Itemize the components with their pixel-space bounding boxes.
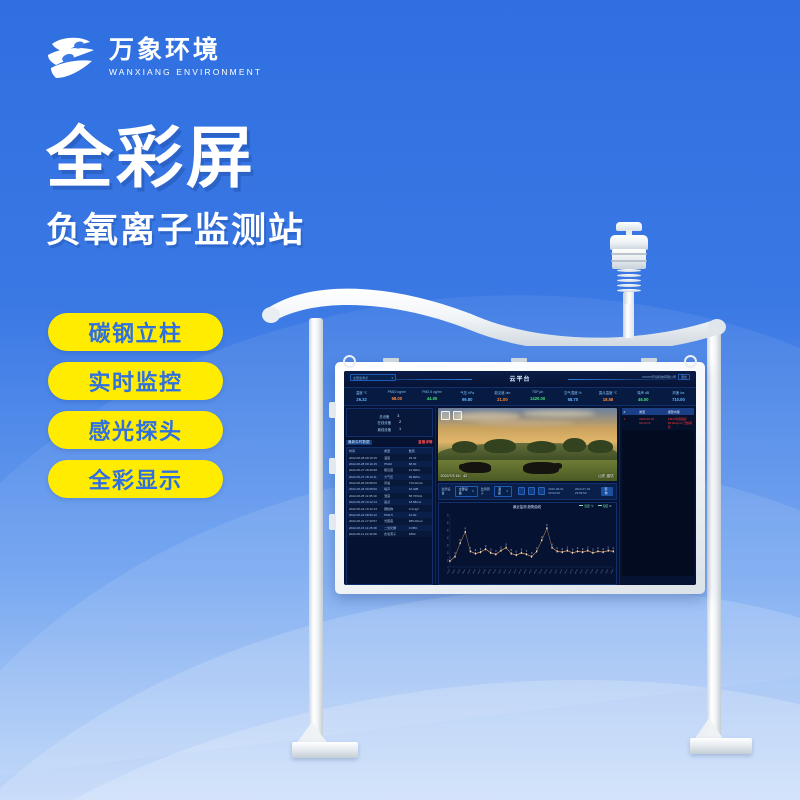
table-view-icon[interactable]: [518, 487, 525, 495]
brand-logo: 万象环境 WANXIANG ENVIRONMENT: [42, 28, 262, 86]
svg-text:06-05: 06-05: [467, 569, 470, 575]
svg-text:06-29: 06-29: [590, 569, 593, 575]
data-table: 时间 类型 数值 2022-06-28 09:10:15 温度 26.32 20…: [346, 447, 433, 585]
metric-label: PM10 ug/m³: [379, 390, 414, 394]
feature-badge: 碳钢立柱: [48, 313, 223, 351]
user-area[interactable]: XXXXX环境科技有限公司 退出: [642, 374, 690, 380]
svg-text:06-12: 06-12: [503, 569, 506, 575]
support-post-left: [309, 318, 323, 748]
device-select-value: 全部监测点: [353, 376, 368, 380]
svg-text:22: 22: [566, 547, 567, 550]
background-wave-4: [0, 608, 800, 800]
svg-text:06-30: 06-30: [595, 569, 598, 575]
tree: [484, 439, 516, 453]
svg-text:06-03: 06-03: [457, 569, 460, 575]
headline-block: 全彩屏 负氧离子监测站: [46, 125, 305, 253]
metric-item: 空气湿度 % 58.70: [555, 388, 590, 405]
cloud: [477, 420, 575, 427]
dashboard-header: 云平台 全部监测点 ▾ XXXXX环境科技有限公司 退出: [344, 371, 696, 388]
svg-text:21: 21: [536, 547, 537, 550]
svg-text:06-08: 06-08: [483, 569, 486, 575]
svg-text:06-20: 06-20: [544, 569, 547, 575]
support-post-right: [707, 322, 721, 744]
feature-badge: 感光探头: [48, 411, 223, 449]
svg-text:07-03: 07-03: [610, 569, 613, 575]
svg-text:06-23: 06-23: [559, 569, 562, 575]
query-button[interactable]: 查询: [601, 487, 612, 496]
date-range[interactable]: 2022-06-01 00:00:00 2022-07-03 23:59:59: [548, 487, 598, 495]
svg-text:21: 21: [612, 547, 613, 550]
hanger-ring-left: [343, 355, 356, 368]
metric-value: 1420.00: [520, 396, 555, 401]
column-header: #: [622, 408, 638, 415]
base-plate-right: [690, 738, 752, 754]
base-plate-left: [292, 742, 358, 758]
stat-value: 3: [397, 414, 399, 419]
svg-text:14: 14: [530, 553, 531, 556]
svg-text:19: 19: [490, 549, 491, 552]
stat-value: 2: [399, 420, 401, 425]
metric-label: 气压 kPa: [450, 390, 485, 395]
product-ad-poster: 万象环境 WANXIANG ENVIRONMENT 全彩屏 负氧离子监测站 碳钢…: [0, 0, 800, 800]
date-end: 2022-07-03 23:59:59: [575, 487, 599, 495]
globe-swirl-icon: [42, 28, 100, 86]
dashboard-screen: 云平台 全部监测点 ▾ XXXXX环境科技有限公司 退出 温度 ℃ 26.32 …: [344, 371, 696, 585]
headline-sub: 负氧离子监测站: [46, 202, 305, 253]
svg-text:18: 18: [474, 550, 475, 553]
tree: [563, 438, 586, 453]
weather-sensor-icon: [604, 222, 654, 302]
chart-legend: 温度 ℃ 湿度 %: [579, 504, 611, 508]
svg-text:21: 21: [597, 547, 598, 550]
export-icon[interactable]: [538, 487, 545, 495]
svg-text:21: 21: [576, 547, 577, 550]
svg-text:20: 20: [602, 548, 603, 551]
mount-bracket: [383, 358, 399, 362]
svg-text:06-16: 06-16: [523, 569, 526, 575]
brand-name-cn: 万象环境: [109, 37, 262, 65]
svg-text:36: 36: [541, 536, 542, 539]
chevron-down-icon: ▾: [506, 489, 508, 493]
svg-text:06-13: 06-13: [508, 569, 511, 575]
alarm-header-row: # 类型 报警内容: [622, 408, 694, 415]
chart-view-icon[interactable]: [528, 487, 535, 495]
svg-text:26: 26: [551, 544, 552, 547]
metric-label: PM2.5 ug/m³: [414, 390, 449, 394]
svg-text:07-01: 07-01: [600, 569, 603, 575]
svg-text:06-24: 06-24: [564, 569, 567, 575]
metric-value: 58.70: [555, 397, 590, 402]
view-details-link[interactable]: 查看详情: [418, 440, 432, 445]
stat-row: 总设备 3: [351, 414, 428, 419]
camera-timestamp: 2022/7/3 16：42: [441, 474, 468, 479]
metric-item: 气压 kPa 99.80: [450, 388, 485, 405]
alarm-row[interactable]: 1 2022-06-28 09:10:15 PM10浓度超标 68.00ug/m…: [622, 415, 694, 430]
svg-text:19: 19: [520, 549, 521, 552]
camera-feed[interactable]: 2022/7/3 16：42 山东 潍坊: [438, 408, 617, 481]
metric-value: 26.32: [344, 397, 379, 402]
side-clip: [329, 458, 336, 474]
alarm-list: 1 2022-06-28 09:10:15 PM10浓度超标 68.00ug/m…: [622, 415, 694, 576]
metric-value: 21.00: [485, 397, 520, 402]
cow: [523, 462, 559, 474]
user-name: XXXXX环境科技有限公司: [642, 375, 676, 379]
svg-text:06-21: 06-21: [549, 569, 552, 575]
svg-text:06-27: 06-27: [580, 569, 583, 575]
feature-badge: 实时监控: [48, 362, 223, 400]
alarm-index: 1: [622, 415, 638, 430]
svg-text:20: 20: [479, 548, 480, 551]
metric-item: PM2.5 ug/m³ 44.00: [414, 388, 449, 405]
cell-time: 2022-06-11 10:44:08: [347, 531, 382, 537]
stat-value: 1: [399, 427, 401, 432]
legend-item: 湿度 %: [598, 504, 612, 508]
metric-item: 能见度 dm 21.00: [485, 388, 520, 405]
cell-type: 负氧离子: [382, 531, 407, 537]
svg-text:47: 47: [464, 528, 465, 531]
alarm-time: 2022-06-28 09:10:15: [637, 415, 666, 430]
side-clip: [329, 514, 336, 530]
legend-swatch: [598, 505, 602, 507]
metric-item: 风速 lux 710.00: [661, 388, 696, 405]
metric-item: 露点温度 ℃ 18.58: [590, 388, 625, 405]
snapshot-icon[interactable]: [453, 411, 462, 420]
svg-text:18: 18: [510, 550, 511, 553]
svg-text:24: 24: [485, 545, 486, 548]
factor-filter-value: 温度: [498, 487, 502, 495]
curved-top-beam: [262, 276, 732, 346]
legend-swatch: [579, 505, 583, 507]
svg-text:07-02: 07-02: [605, 569, 608, 575]
metric-item: TSP μh 1420.00: [520, 388, 555, 405]
data-table-title: 最新实时数据: [346, 440, 372, 445]
metric-label: 空气湿度 %: [555, 390, 590, 395]
svg-text:06-19: 06-19: [539, 569, 542, 575]
device-filter-select[interactable]: 全部设备 ▾: [455, 486, 478, 497]
svg-text:22: 22: [607, 547, 608, 550]
stat-label: 离线设备: [378, 427, 392, 432]
device-filter-value: 全部设备: [459, 487, 468, 495]
metric-value: 18.58: [590, 397, 625, 402]
date-start: 2022-06-01 00:00:00: [548, 487, 572, 495]
svg-text:06-06: 06-06: [472, 569, 475, 575]
stat-row: 在线设备 2: [351, 420, 428, 425]
svg-text:06-07: 06-07: [477, 569, 480, 575]
metrics-row: 温度 ℃ 26.32 PM10 ug/m³ 68.00 PM2.5 ug/m³ …: [344, 388, 696, 406]
svg-text:50: 50: [446, 528, 448, 532]
svg-text:22: 22: [500, 547, 501, 550]
svg-text:30: 30: [446, 543, 448, 547]
legend-item: 温度 ℃: [579, 504, 594, 508]
feature-badge: 全彩显示: [48, 460, 223, 498]
svg-text:40: 40: [446, 536, 448, 540]
metric-label: 温度 ℃: [344, 390, 379, 395]
legend-label: 温度 ℃: [584, 504, 594, 508]
svg-text:06-25: 06-25: [569, 569, 572, 575]
svg-text:06-14: 06-14: [513, 569, 516, 575]
svg-text:8: 8: [449, 557, 450, 560]
factor-filter-select[interactable]: 温度 ▾: [494, 486, 512, 497]
chevron-down-icon: ▾: [391, 376, 393, 380]
device-stats: 总设备 3 在线设备 2 离线设备 1: [346, 408, 433, 437]
legend-label: 湿度 %: [603, 504, 612, 508]
svg-text:52: 52: [546, 524, 547, 527]
metric-label: 露点温度 ℃: [590, 390, 625, 395]
svg-text:06-02: 06-02: [452, 569, 455, 575]
camera-controls[interactable]: [441, 411, 462, 420]
base-gusset-right: [694, 718, 724, 740]
metric-value: 99.80: [450, 397, 485, 402]
trend-chart: 最近监测 趋势曲线 温度 ℃ 湿度 % 0102030405060708: [438, 502, 617, 585]
tree: [452, 441, 477, 453]
brand-name-en: WANXIANG ENVIRONMENT: [109, 67, 262, 77]
metric-label: 能见度 dm: [485, 390, 520, 395]
center-panel: 2022/7/3 16：42 山东 潍坊 监测设备 全部设备 ▾ 监测因子 温度…: [436, 406, 619, 585]
logout-button[interactable]: 退出: [678, 374, 690, 380]
svg-text:06-22: 06-22: [554, 569, 557, 575]
svg-text:17: 17: [525, 550, 526, 553]
svg-text:16: 16: [515, 551, 516, 554]
headline-main: 全彩屏: [46, 125, 305, 192]
device-select[interactable]: 全部监测点 ▾: [350, 374, 396, 381]
feature-badge-list: 碳钢立柱 实时监控 感光探头 全彩显示: [48, 313, 223, 498]
mount-bracket: [511, 358, 527, 362]
svg-text:70: 70: [446, 514, 448, 518]
tree: [527, 441, 556, 453]
side-clip: [329, 402, 336, 418]
svg-text:06-18: 06-18: [534, 569, 537, 575]
metric-label: TSP μh: [520, 390, 555, 394]
cell-value: 1860: [407, 531, 432, 537]
tree: [588, 440, 613, 453]
svg-text:20: 20: [446, 551, 448, 555]
metric-label: 噪声 dB: [626, 390, 661, 395]
metric-value: 710.00: [661, 397, 696, 402]
chart-controls: 监测设备 全部设备 ▾ 监测因子 温度 ▾: [438, 483, 617, 500]
svg-text:14: 14: [454, 553, 455, 556]
metric-label: 风速 lux: [661, 390, 696, 395]
metric-value: 44.00: [414, 396, 449, 401]
cloud: [523, 410, 595, 417]
metric-item: 温度 ℃ 26.32: [344, 388, 379, 405]
table-row[interactable]: 2022-06-11 10:44:08 负氧离子 1860: [347, 531, 432, 537]
svg-text:21: 21: [469, 547, 470, 550]
display-cabinet: 云平台 全部监测点 ▾ XXXXX环境科技有限公司 退出 温度 ℃ 26.32 …: [335, 362, 705, 594]
svg-text:19: 19: [571, 549, 572, 552]
svg-text:06-26: 06-26: [575, 569, 578, 575]
stat-label: 在线设备: [378, 420, 392, 425]
left-panel: 总设备 3 在线设备 2 离线设备 1 最新实时数据: [344, 406, 436, 585]
svg-text:06-10: 06-10: [493, 569, 496, 575]
column-header: 类型: [637, 408, 666, 415]
svg-text:06-15: 06-15: [518, 569, 521, 575]
metric-value: 46.00: [626, 397, 661, 402]
alarm-panel: # 类型 报警内容 1 2022-06-28 09:10:15 PM10浓度超标…: [619, 406, 696, 585]
svg-text:06-28: 06-28: [585, 569, 588, 575]
metric-item: PM10 ug/m³ 68.00: [379, 388, 414, 405]
svg-text:20: 20: [582, 548, 583, 551]
chart-canvas: 010203040506070806-011406-023206-034706-…: [439, 509, 616, 584]
base-gusset-left: [296, 722, 328, 744]
svg-text:21: 21: [556, 547, 557, 550]
chevron-down-icon: ▾: [472, 489, 474, 493]
fullscreen-icon[interactable]: [441, 411, 450, 420]
svg-text:06-09: 06-09: [488, 569, 491, 575]
svg-text:60: 60: [446, 521, 448, 525]
dashboard-body: 总设备 3 在线设备 2 离线设备 1 最新实时数据: [344, 406, 696, 585]
mount-bracket: [641, 358, 657, 362]
camera-location: 山东 潍坊: [598, 474, 613, 479]
svg-text:06-04: 06-04: [462, 569, 465, 575]
svg-text:22: 22: [587, 547, 588, 550]
svg-text:19: 19: [592, 549, 593, 552]
svg-text:06-11: 06-11: [498, 569, 501, 575]
device-filter-label: 监测设备: [442, 487, 452, 495]
svg-text:26: 26: [505, 544, 506, 547]
alarm-message: PM10浓度超标 68.00ug/m³ 已超阈值: [666, 415, 694, 430]
svg-text:06-17: 06-17: [529, 569, 532, 575]
hanger-ring-right: [684, 355, 697, 368]
metric-value: 68.00: [379, 396, 414, 401]
column-header: 报警内容: [666, 408, 694, 415]
stat-label: 总设备: [379, 414, 389, 419]
metric-item: 噪声 dB 46.00: [626, 388, 661, 405]
cow: [461, 462, 491, 473]
data-table-header: 最新实时数据 查看详情: [346, 440, 433, 445]
svg-text:17: 17: [495, 550, 496, 553]
stat-row: 离线设备 1: [351, 427, 428, 432]
factor-filter-label: 监测因子: [481, 487, 491, 495]
svg-text:32: 32: [459, 539, 460, 542]
svg-text:20: 20: [561, 548, 562, 551]
